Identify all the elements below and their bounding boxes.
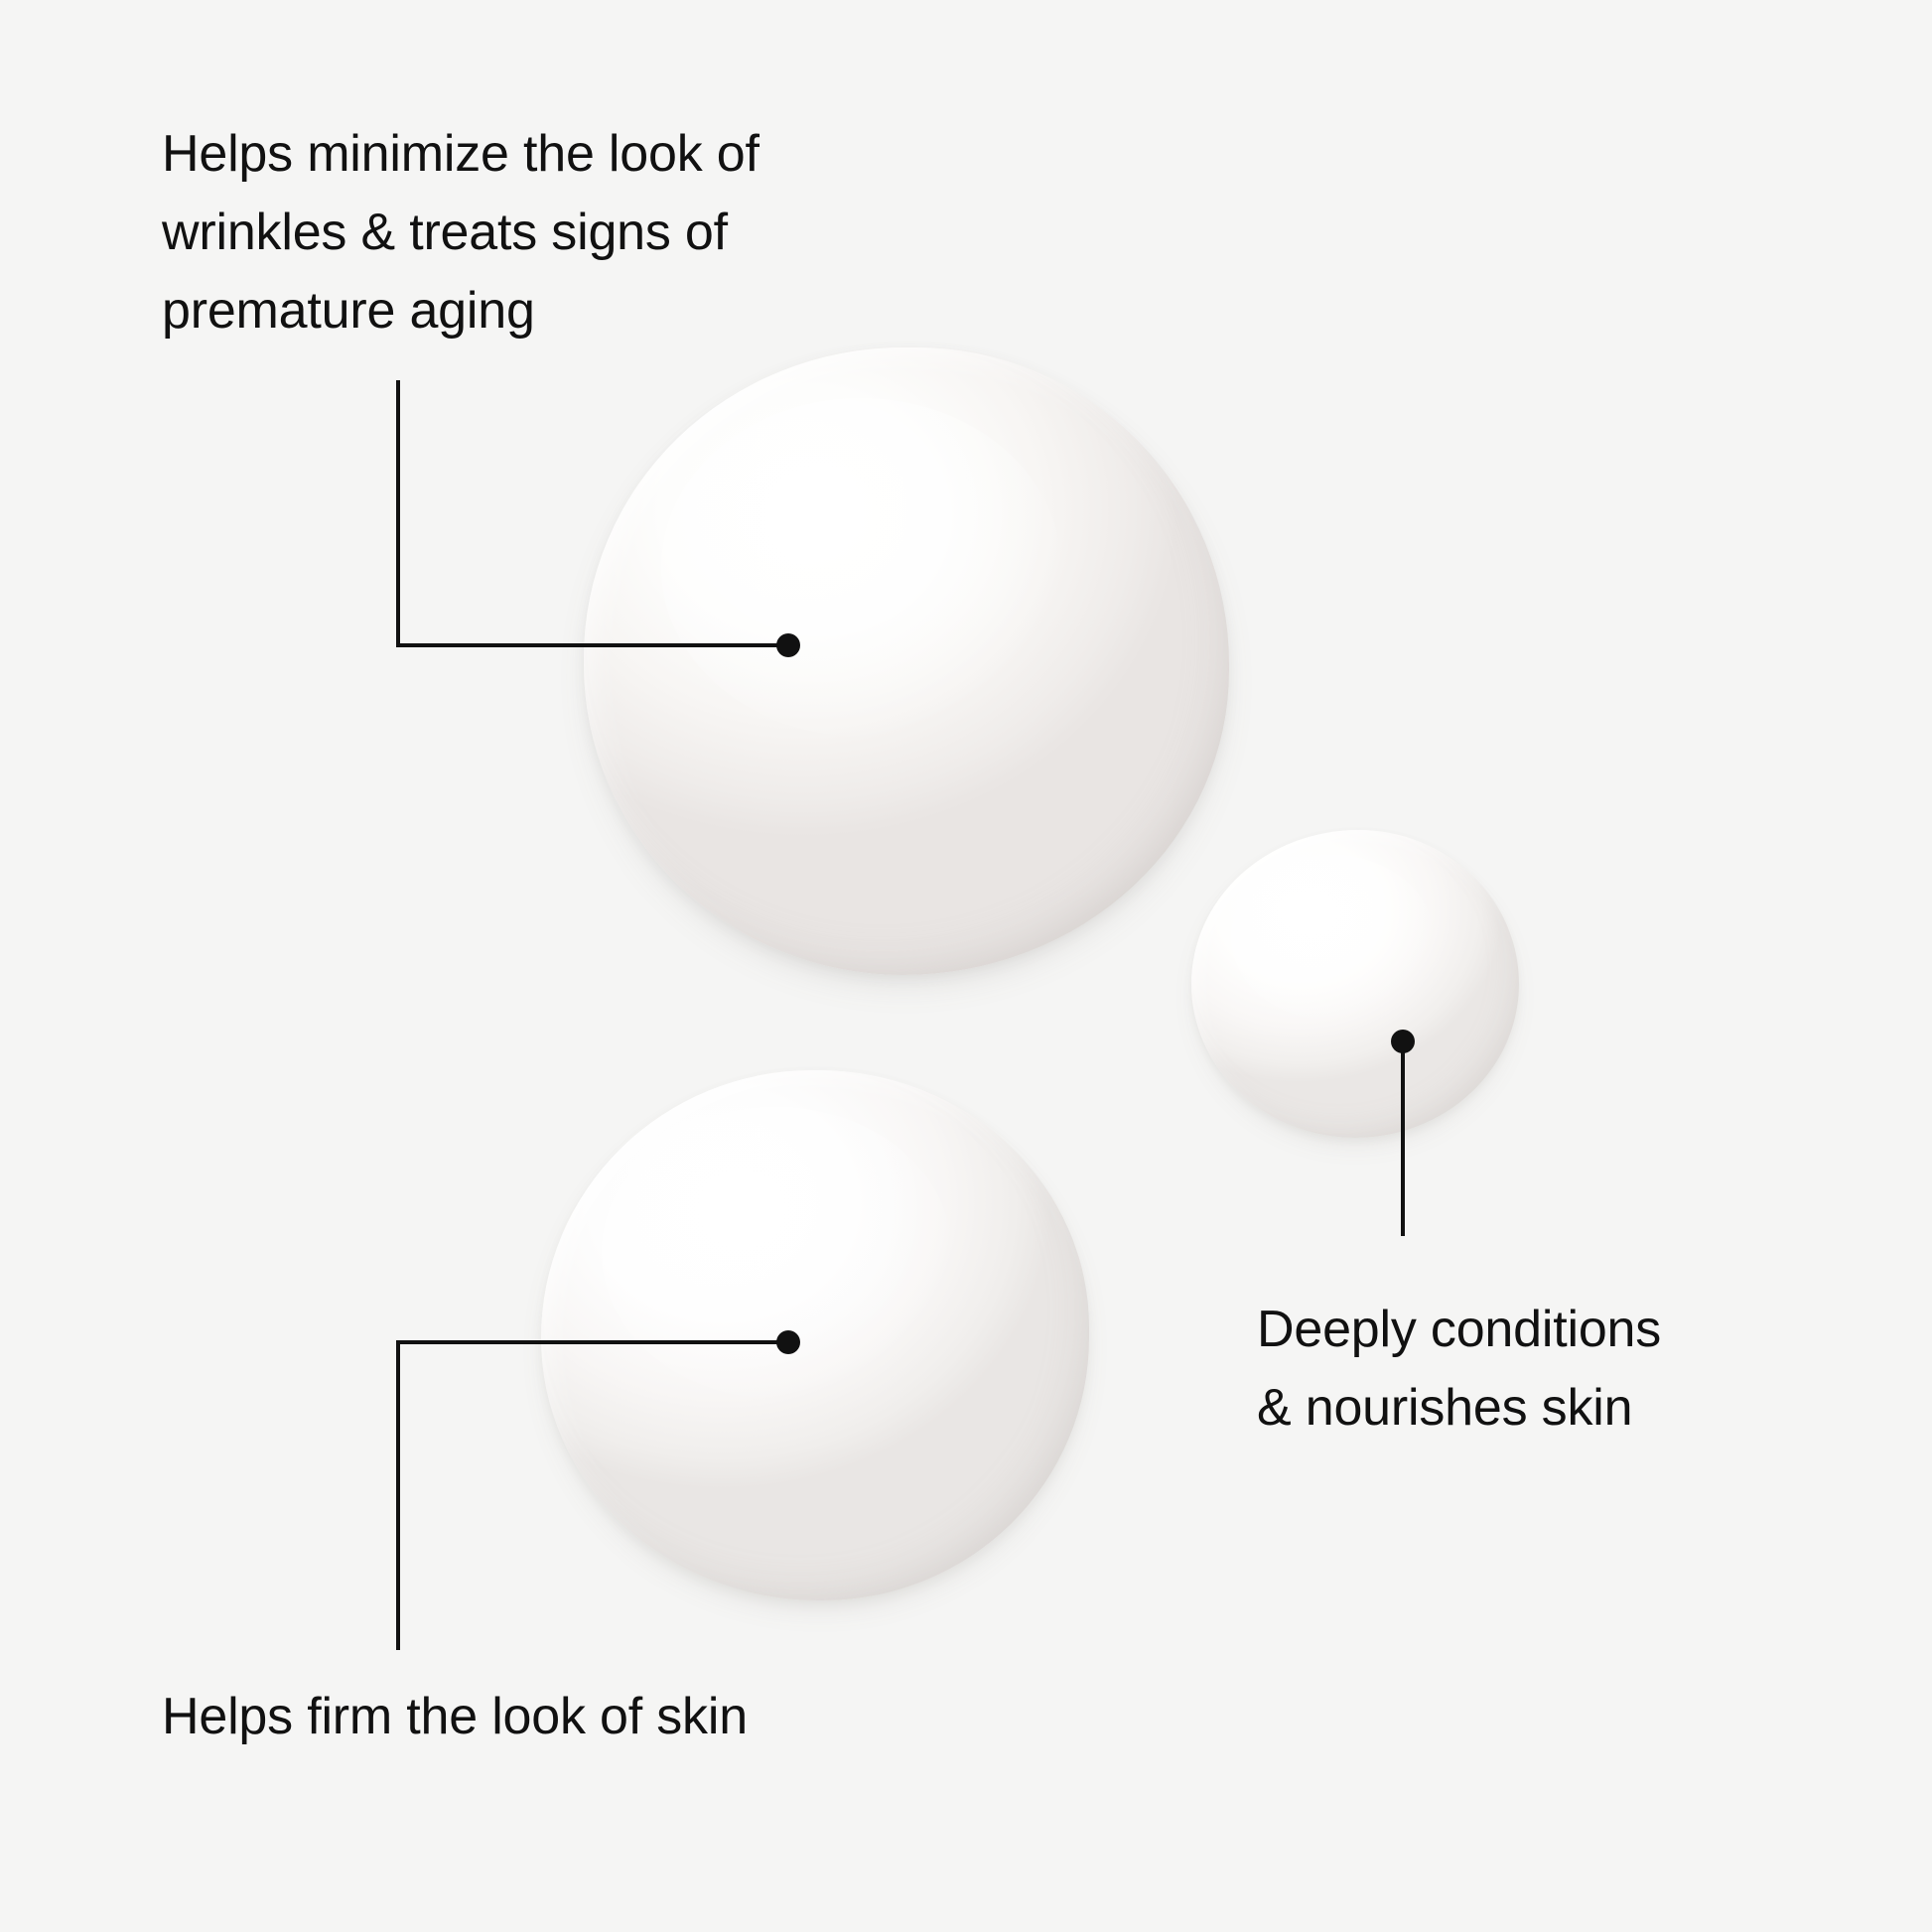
callout-text-minimize-wrinkles: Helps minimize the look of wrinkles & tr… (162, 115, 877, 350)
callout-text-firms-skin: Helps firm the look of skin (162, 1678, 916, 1756)
large-cream-droplet (584, 347, 1229, 975)
product-benefits-graphic: Helps minimize the look of wrinkles & tr… (0, 0, 1932, 1932)
medium-cream-droplet (541, 1070, 1089, 1600)
small-cream-droplet (1191, 830, 1519, 1138)
callout-text-deeply-conditions: Deeply conditions & nourishes skin (1257, 1291, 1813, 1448)
